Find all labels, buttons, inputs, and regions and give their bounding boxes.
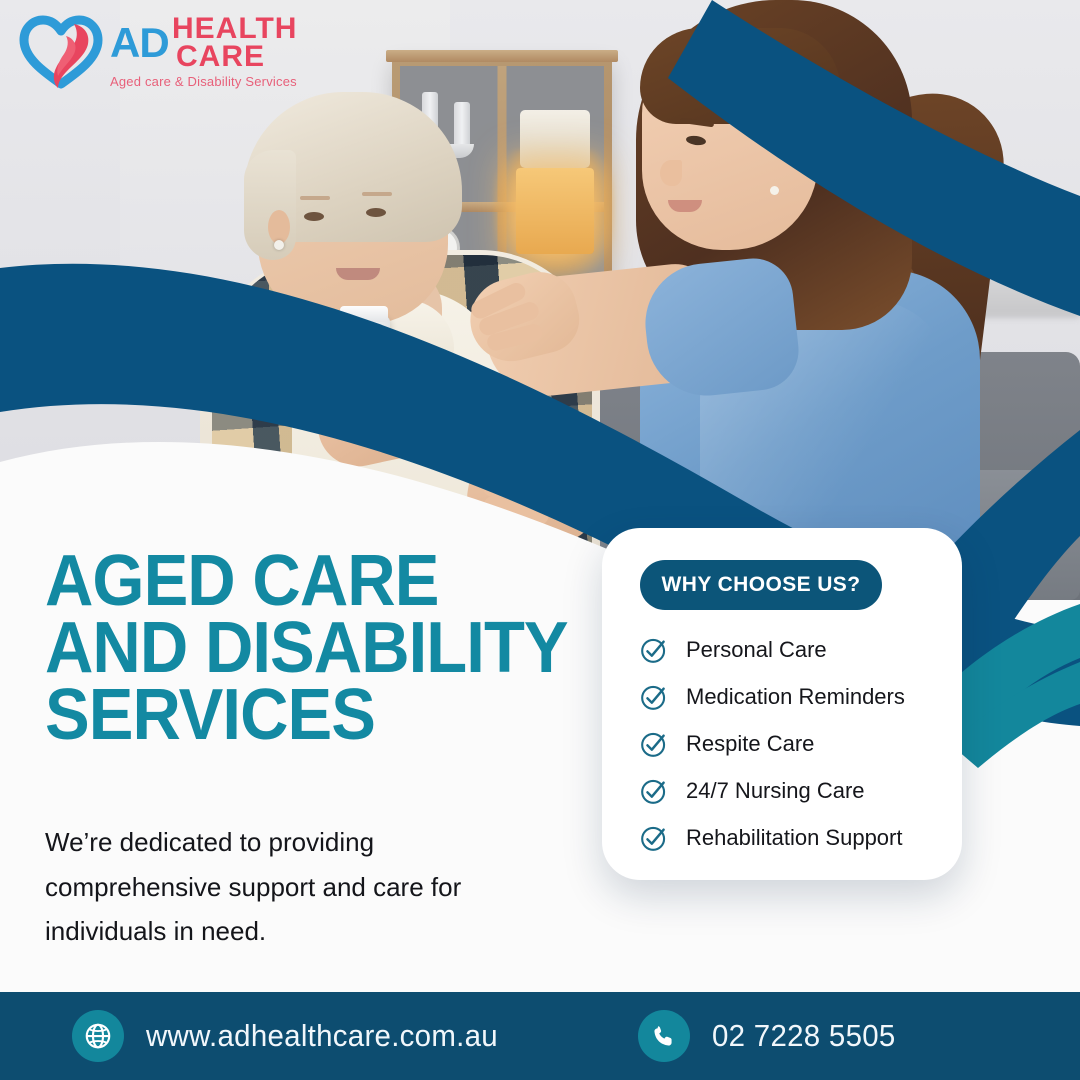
nurse-earring bbox=[770, 186, 779, 195]
list-item: Medication Reminders bbox=[640, 673, 940, 720]
list-item: Personal Care bbox=[640, 626, 940, 673]
shelf-top bbox=[386, 50, 618, 62]
website-contact[interactable]: www.adhealthcare.com.au bbox=[72, 1010, 516, 1062]
headline-line-3: SERVICES bbox=[45, 682, 566, 749]
check-circle-icon bbox=[640, 636, 668, 664]
background-shelf-blur bbox=[980, 268, 1080, 318]
nurse-hair-front bbox=[640, 28, 840, 124]
page-title: AGED CARE AND DISABILITY SERVICES bbox=[45, 548, 566, 749]
headline-line-2: AND DISABILITY bbox=[45, 615, 566, 682]
feature-label: Medication Reminders bbox=[686, 684, 905, 710]
lamp-shade bbox=[520, 110, 590, 168]
woman-hair-side bbox=[244, 150, 296, 260]
logo-care-text: CARE bbox=[176, 42, 265, 72]
woman-earring bbox=[274, 240, 284, 250]
list-item: 24/7 Nursing Care bbox=[640, 767, 940, 814]
logo-ad-text: AD bbox=[110, 22, 169, 64]
feature-label: 24/7 Nursing Care bbox=[686, 778, 865, 804]
woman-eye bbox=[366, 208, 386, 217]
poster: AD HEALTH CARE Aged care & Disability Se… bbox=[0, 0, 1080, 1080]
pill-bottle-cap bbox=[340, 306, 388, 322]
lamp-light bbox=[516, 168, 594, 254]
feature-list: Personal Care Medication Reminders Respi… bbox=[640, 626, 940, 861]
logo[interactable]: AD HEALTH CARE Aged care & Disability Se… bbox=[14, 8, 270, 94]
contact-footer: www.adhealthcare.com.au 02 7228 5505 bbox=[0, 992, 1080, 1080]
woman-eyebrow bbox=[362, 192, 392, 196]
phone-contact[interactable]: 02 7228 5505 bbox=[638, 1010, 905, 1062]
pill-bottle bbox=[338, 316, 390, 392]
check-circle-icon bbox=[640, 824, 668, 852]
list-item: Respite Care bbox=[640, 720, 940, 767]
globe-icon bbox=[72, 1010, 124, 1062]
check-circle-icon bbox=[640, 683, 668, 711]
headline-line-1: AGED CARE bbox=[45, 548, 566, 615]
phone-icon bbox=[638, 1010, 690, 1062]
woman-ear bbox=[268, 210, 290, 244]
woman-eyebrow bbox=[300, 196, 330, 200]
subcopy-text: We’re dedicated to providing comprehensi… bbox=[45, 820, 515, 954]
heart-hand-logo-icon bbox=[14, 10, 114, 90]
list-item: Rehabilitation Support bbox=[640, 814, 940, 861]
woman-eye bbox=[304, 212, 324, 221]
check-circle-icon bbox=[640, 777, 668, 805]
woman-mouth bbox=[336, 268, 380, 280]
logo-tagline: Aged care & Disability Services bbox=[110, 74, 297, 89]
nurse-nose bbox=[660, 160, 682, 186]
website-url: www.adhealthcare.com.au bbox=[146, 1018, 498, 1054]
feature-label: Respite Care bbox=[686, 731, 814, 757]
teal-curve-band-right-2 bbox=[950, 662, 1080, 768]
why-choose-us-card: WHY CHOOSE US? Personal Care Medication … bbox=[602, 528, 962, 880]
check-circle-icon bbox=[640, 730, 668, 758]
feature-label: Personal Care bbox=[686, 637, 827, 663]
phone-number: 02 7228 5505 bbox=[712, 1018, 896, 1054]
finger bbox=[482, 455, 547, 477]
why-choose-us-badge: WHY CHOOSE US? bbox=[640, 560, 882, 610]
feature-label: Rehabilitation Support bbox=[686, 825, 902, 851]
